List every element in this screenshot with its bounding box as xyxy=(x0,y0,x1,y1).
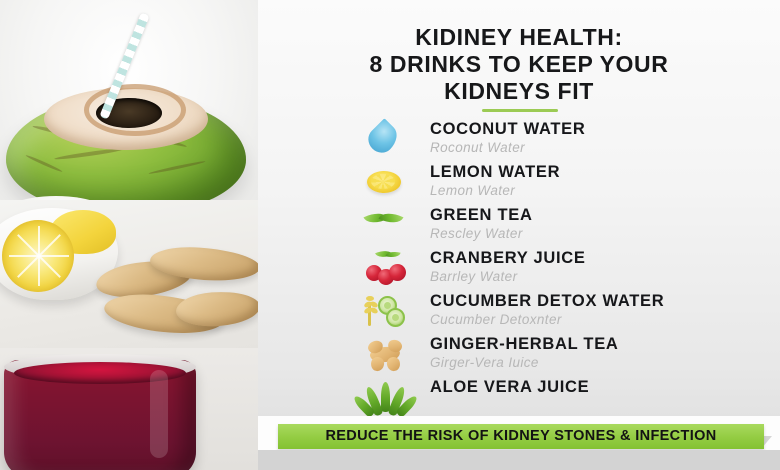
list-item: LEMON WATER Lemon Water xyxy=(362,163,780,206)
lemon-half xyxy=(2,220,74,292)
call-to-action-banner: REDUCE THE RISK OF KIDNEY STONES & INFEC… xyxy=(278,424,764,449)
drink-subtitle: Barrley Water xyxy=(430,268,586,285)
poster-canvas: KIDINEY HEALTH: 8 DRINKS TO KEEP YOUR KI… xyxy=(0,0,780,470)
banner-text: REDUCE THE RISK OF KIDNEY STONES & INFEC… xyxy=(278,424,764,449)
list-item: GINGER-HERBAL TEA Girger-Vera Iuice xyxy=(362,335,780,378)
drink-name: CUCUMBER DETOX WATER xyxy=(430,292,664,311)
drink-subtitle: Lemon Water xyxy=(430,182,560,199)
title-line-1: KIDINEY HEALTH: xyxy=(258,24,780,51)
drink-name: LEMON WATER xyxy=(430,163,560,182)
list-item: CUCUMBER DETOX WATER Cucumber Detoxnter xyxy=(362,292,780,335)
page-title: KIDINEY HEALTH: 8 DRINKS TO KEEP YOUR KI… xyxy=(258,24,780,105)
list-item: CRANBERY JUICE Barrley Water xyxy=(362,249,780,292)
photo-collage xyxy=(0,0,258,470)
list-item: GREEN TEA Rescley Water xyxy=(362,206,780,249)
drink-name: ALOE VERA JUICE xyxy=(430,378,589,397)
green-leaves-icon xyxy=(362,206,408,248)
title-underline-accent xyxy=(482,109,558,112)
list-item: ALOE VERA JUICE xyxy=(362,378,780,421)
bottom-strip xyxy=(258,450,780,470)
drink-subtitle: Roconut Water xyxy=(430,139,585,156)
cranberries-icon xyxy=(362,249,408,291)
drink-name: GREEN TEA xyxy=(430,206,533,225)
aloe-plant-icon xyxy=(362,378,408,420)
drink-subtitle: Cucumber Detoxnter xyxy=(430,311,664,328)
water-drop-icon xyxy=(362,120,408,162)
drink-subtitle: Girger-Vera Iuice xyxy=(430,354,619,371)
cranberry-juice-glass-photo xyxy=(0,348,258,470)
drink-name: CRANBERY JUICE xyxy=(430,249,586,268)
lemon-and-ginger-photo xyxy=(0,200,258,360)
glass-highlight xyxy=(150,370,168,458)
lemon-slice-icon xyxy=(362,163,408,205)
drink-name: GINGER-HERBAL TEA xyxy=(430,335,619,354)
list-item: COCONUT WATER Roconut Water xyxy=(362,120,780,163)
title-line-2: 8 DRINKS TO KEEP YOUR xyxy=(258,51,780,78)
cucumber-slices-icon xyxy=(362,292,408,334)
ginger-root-icon xyxy=(362,335,408,377)
drink-subtitle: Rescley Water xyxy=(430,225,533,242)
content-panel: KIDINEY HEALTH: 8 DRINKS TO KEEP YOUR KI… xyxy=(258,0,780,470)
coconut-with-straw-photo xyxy=(0,0,258,230)
drinks-list: COCONUT WATER Roconut Water LEMON WATER … xyxy=(362,120,780,421)
title-line-3: KIDNEYS FIT xyxy=(258,78,780,105)
drink-name: COCONUT WATER xyxy=(430,120,585,139)
